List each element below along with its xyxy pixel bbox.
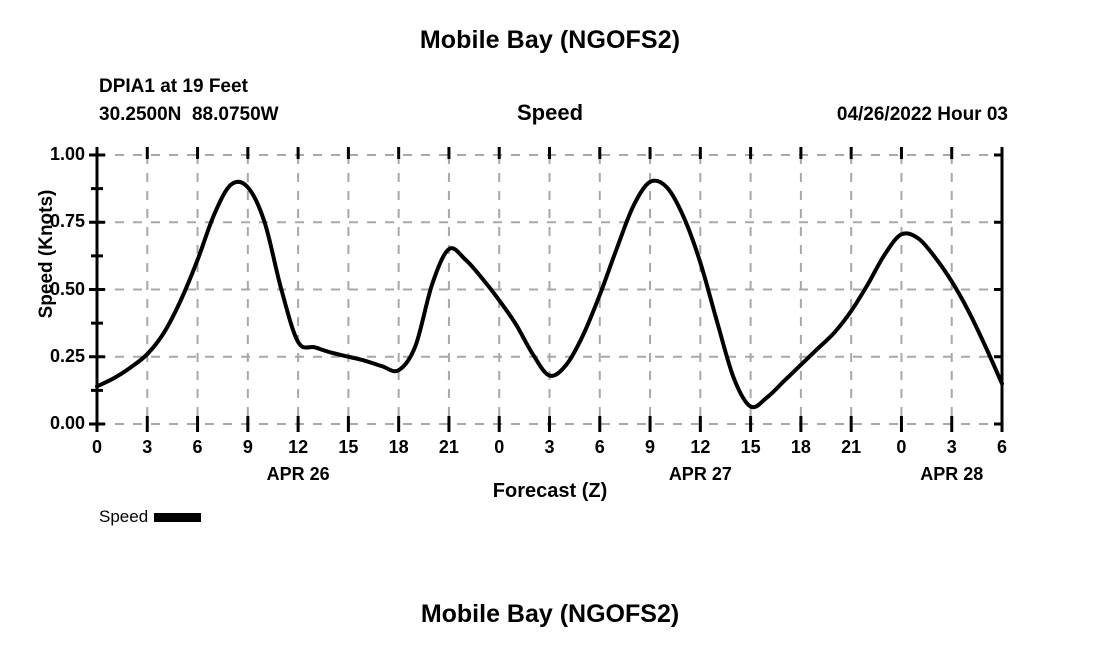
x-tick-label: 6: [178, 437, 218, 458]
x-tick-label: 18: [781, 437, 821, 458]
x-tick-label: 21: [429, 437, 469, 458]
y-tick-label: 0.25: [13, 346, 85, 367]
plot-area: Speed (Knots) Forecast (Z) 0.000.250.500…: [0, 0, 1100, 560]
x-tick-label: 3: [932, 437, 972, 458]
x-tick-label: 9: [228, 437, 268, 458]
y-tick-label: 0.00: [13, 413, 85, 434]
legend-label-speed: Speed: [99, 507, 148, 527]
x-tick-label: 18: [379, 437, 419, 458]
day-label: APR 26: [228, 464, 368, 485]
x-tick-label: 3: [530, 437, 570, 458]
y-tick-label: 0.50: [13, 279, 85, 300]
x-tick-label: 6: [580, 437, 620, 458]
x-tick-label: 6: [982, 437, 1022, 458]
footer-title: Mobile Bay (NGOFS2): [0, 600, 1100, 629]
x-tick-label: 15: [731, 437, 771, 458]
x-tick-label: 21: [831, 437, 871, 458]
x-tick-label: 15: [328, 437, 368, 458]
y-tick-label: 0.75: [13, 211, 85, 232]
x-tick-label: 3: [127, 437, 167, 458]
x-tick-label: 0: [479, 437, 519, 458]
x-tick-label: 9: [630, 437, 670, 458]
day-label: APR 27: [630, 464, 770, 485]
y-tick-label: 1.00: [13, 144, 85, 165]
y-axis-title: Speed (Knots): [36, 154, 58, 354]
chart-legend: Speed: [99, 507, 201, 527]
x-tick-label: 12: [278, 437, 318, 458]
chart-page: Mobile Bay (NGOFS2) DPIA1 at 19 Feet 30.…: [0, 0, 1100, 650]
day-label: APR 28: [882, 464, 1022, 485]
x-tick-label: 12: [680, 437, 720, 458]
x-tick-label: 0: [77, 437, 117, 458]
x-tick-label: 0: [881, 437, 921, 458]
legend-swatch-speed: [154, 513, 201, 522]
